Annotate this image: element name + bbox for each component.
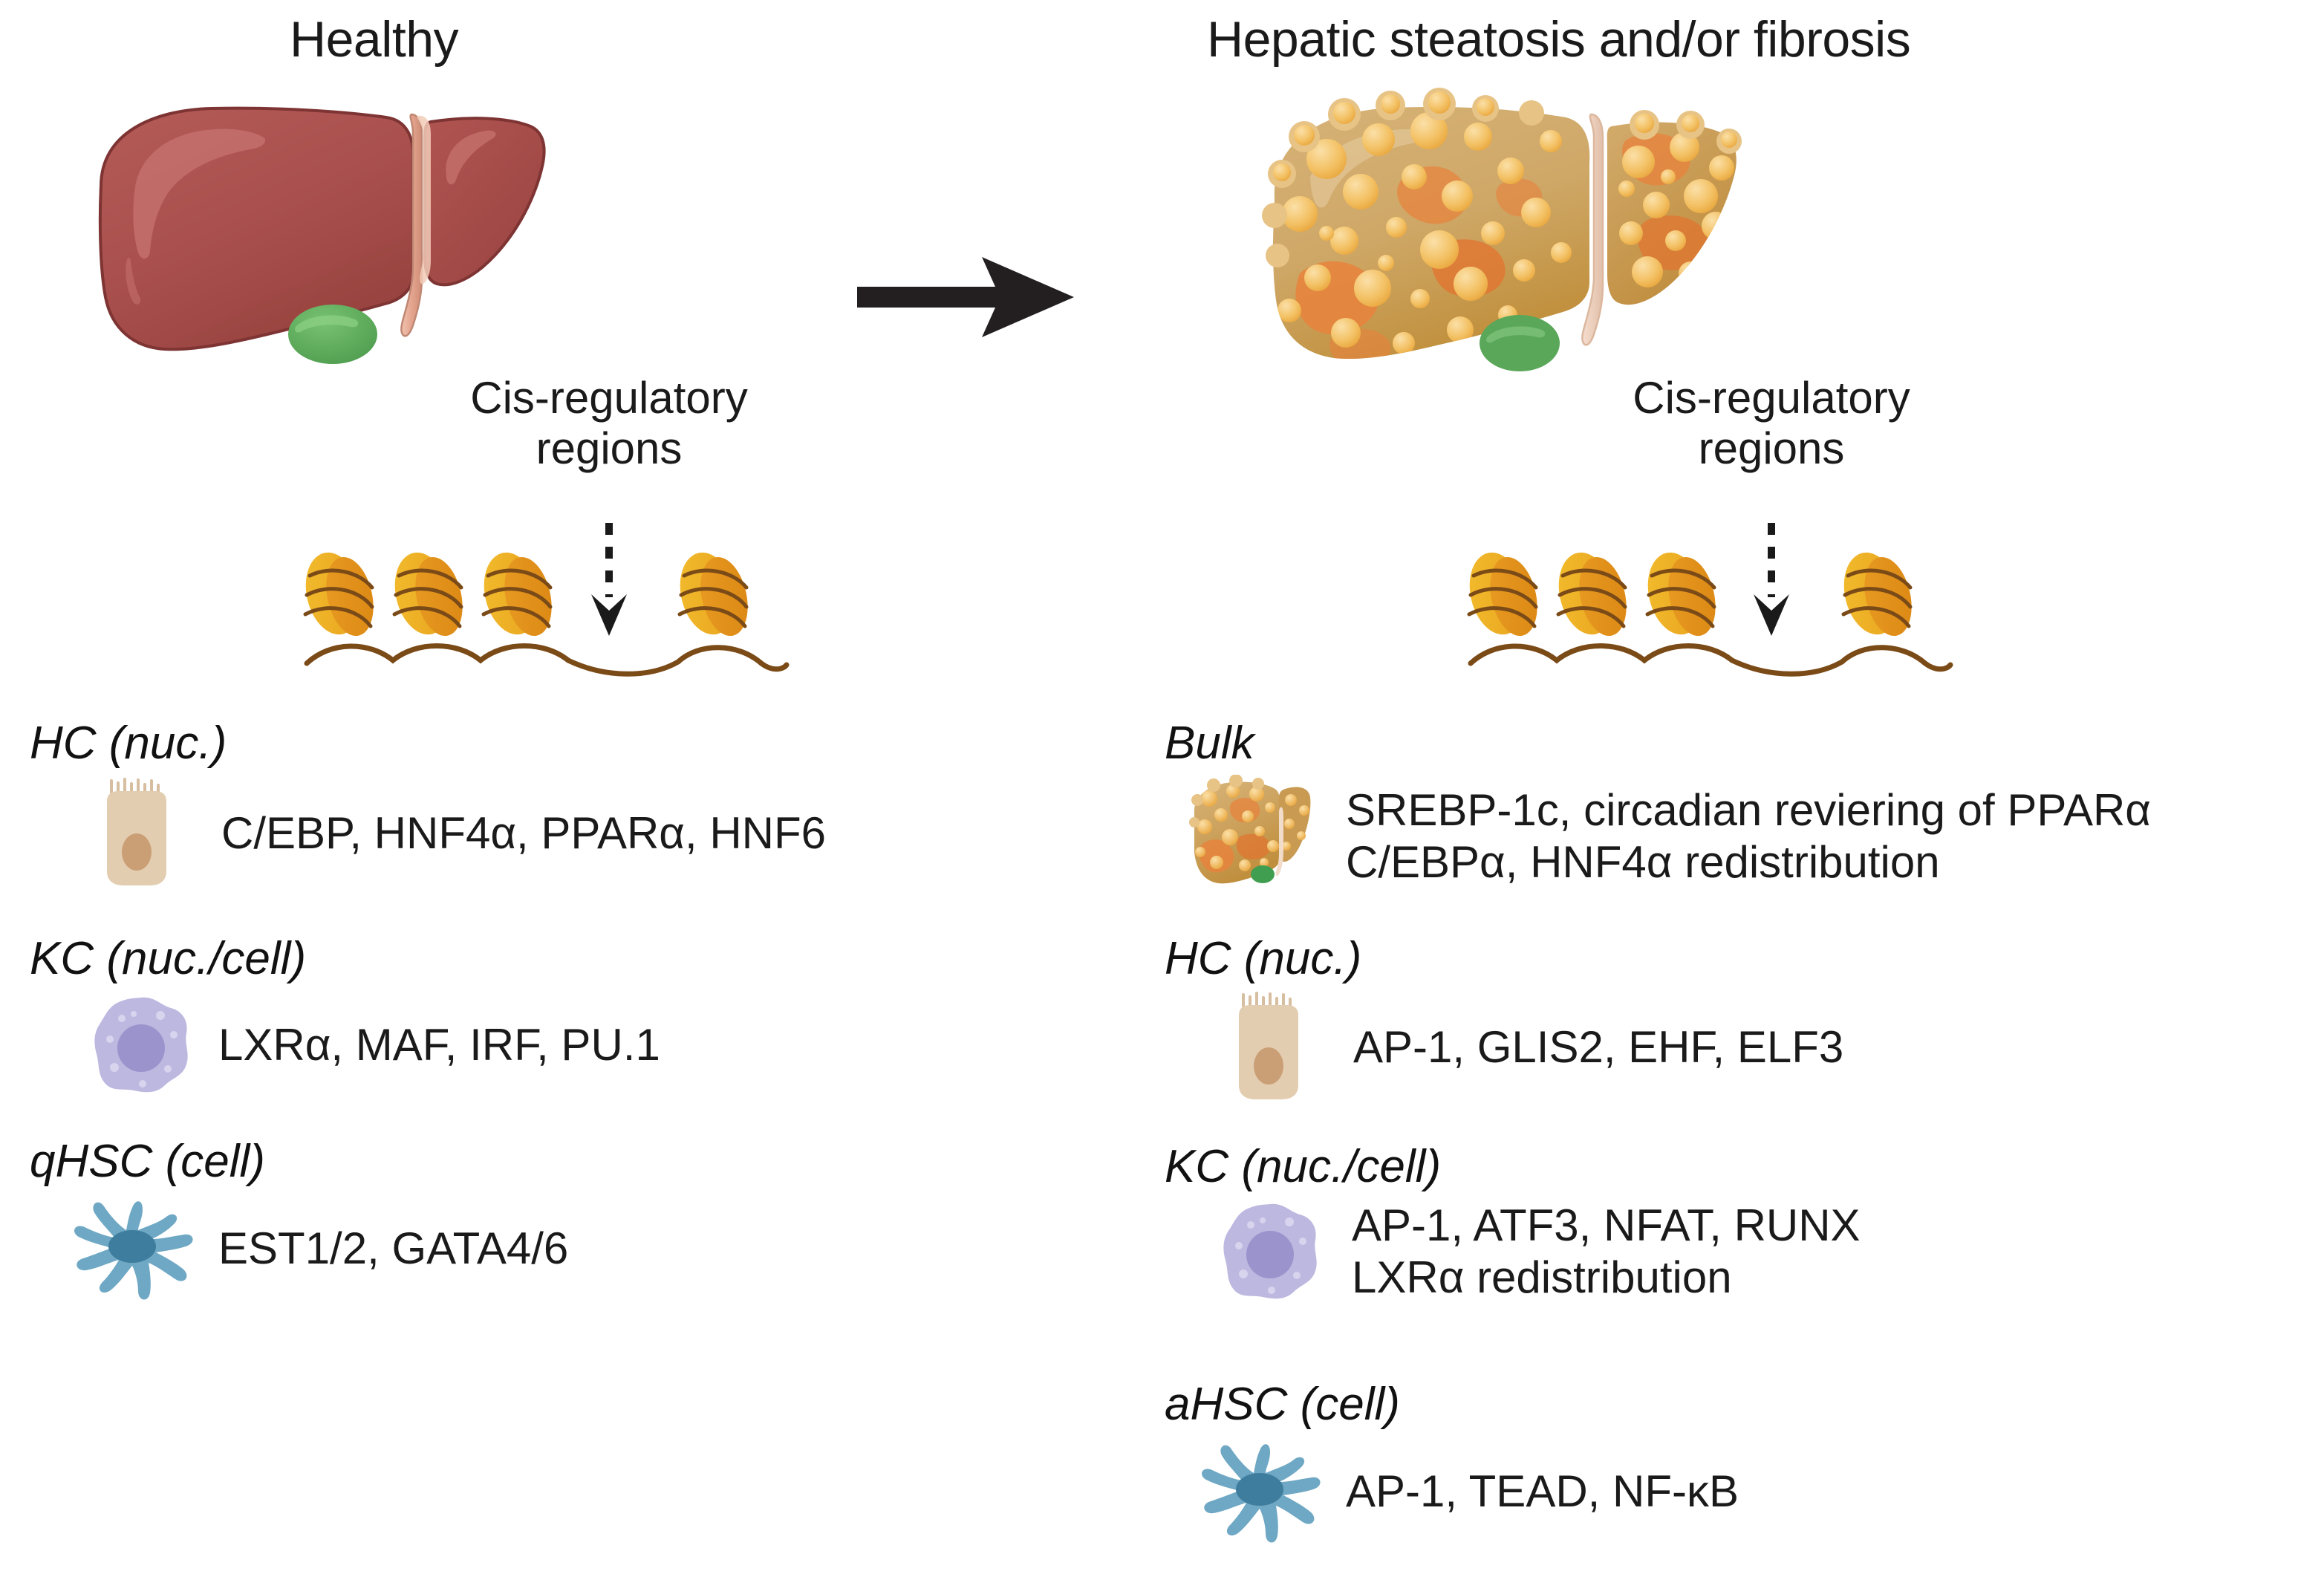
group-row: AP-1, TEAD, NF-κB [1188,1436,1739,1547]
group-text-line: EST1/2, GATA4/6 [218,1223,568,1275]
group-text: LXRα, MAF, IRF, PU.1 [218,1019,660,1071]
group-label: HC (nuc.) [1165,932,1361,985]
kupffer-cell-icon [89,993,193,1097]
hepatic-stellate-cell-icon [61,1193,202,1304]
group-row: SREBP-1c, circadian reviering of PPARα C… [1187,775,2151,897]
hepatocyte-icon [95,778,178,889]
group-text-line: C/EBP, HNF4α, PPARα, HNF6 [221,807,826,859]
group-row: C/EBP, HNF4α, PPARα, HNF6 [95,778,826,889]
nucleosome-chromatin-icon-right [1465,546,1955,680]
right-arrow-icon [854,245,1077,349]
page-title-disease: Hepatic steatosis and/or fibrosis [1207,10,1910,68]
group-text: EST1/2, GATA4/6 [218,1223,568,1275]
cis-regulatory-caption-right: Cis-regulatory regions [1597,373,1946,474]
kupffer-cell-icon [1218,1200,1322,1304]
page-title-healthy: Healthy [290,10,458,68]
nucleosome-chromatin-icon-left [301,546,791,680]
group-row: AP-1, ATF3, NFAT, RUNX LXRα redistributi… [1218,1200,1861,1304]
group-label: Bulk [1165,717,1254,770]
group-label: KC (nuc./cell) [1165,1140,1441,1193]
group-row: LXRα, MAF, IRF, PU.1 [89,993,660,1097]
group-text-line: AP-1, ATF3, NFAT, RUNX [1352,1200,1861,1252]
group-text-line: AP-1, TEAD, NF-κB [1346,1466,1739,1518]
cis-caption-line-1: Cis-regulatory [1597,373,1946,423]
hepatocyte-icon [1227,992,1310,1103]
group-text-line: LXRα redistribution [1352,1252,1861,1304]
group-label: KC (nuc./cell) [30,932,306,985]
group-text-line: SREBP-1c, circadian reviering of PPARα [1346,784,2151,836]
group-label: aHSC (cell) [1165,1378,1400,1431]
group-text: C/EBP, HNF4α, PPARα, HNF6 [221,807,826,859]
cis-caption-line-2: regions [1597,423,1946,474]
group-text-line: C/EBPα, HNF4α redistribution [1346,836,2151,888]
group-text: AP-1, ATF3, NFAT, RUNX LXRα redistributi… [1352,1200,1861,1303]
group-text: SREBP-1c, circadian reviering of PPARα C… [1346,784,2151,888]
group-row: AP-1, GLIS2, EHF, ELF3 [1227,992,1843,1103]
group-label: qHSC (cell) [30,1135,265,1188]
steatotic-liver-icon [1255,88,1760,398]
group-label: HC (nuc.) [30,717,227,770]
cis-regulatory-caption-left: Cis-regulatory regions [434,373,784,474]
group-text: AP-1, TEAD, NF-κB [1346,1466,1739,1518]
cis-caption-line-1: Cis-regulatory [434,373,784,423]
group-text-line: AP-1, GLIS2, EHF, ELF3 [1353,1021,1843,1073]
group-row: EST1/2, GATA4/6 [61,1193,568,1304]
cis-caption-line-2: regions [434,423,784,474]
steatotic-liver-small-icon [1187,775,1313,897]
hepatic-stellate-cell-icon [1188,1436,1329,1547]
group-text-line: LXRα, MAF, IRF, PU.1 [218,1019,660,1071]
healthy-liver-icon [82,89,557,386]
group-text: AP-1, GLIS2, EHF, ELF3 [1353,1021,1843,1073]
